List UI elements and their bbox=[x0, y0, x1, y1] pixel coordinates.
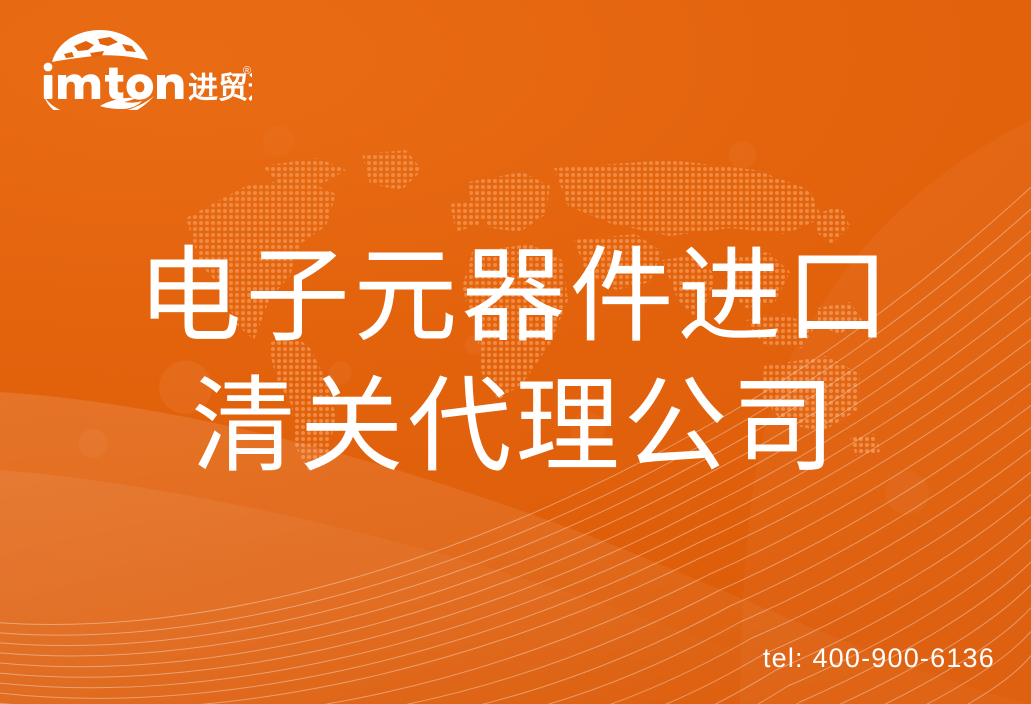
brand-logo[interactable]: 进贸通 ® bbox=[38, 26, 252, 110]
imton-wordmark bbox=[44, 63, 184, 100]
promo-banner: 进贸通 ® 电子元器件进口 清关代理公司 tel: 400-900-6136 bbox=[0, 0, 1031, 704]
page-title: 电子元器件进口 清关代理公司 bbox=[0, 232, 1031, 492]
contact-phone[interactable]: tel: 400-900-6136 bbox=[763, 643, 995, 674]
headline-line-2: 清关代理公司 bbox=[0, 362, 1031, 492]
globe-dome-icon bbox=[46, 30, 148, 68]
brand-chinese-logotype: 进贸通 ® bbox=[188, 65, 252, 105]
trademark-symbol: ® bbox=[243, 65, 251, 77]
headline-line-1: 电子元器件进口 bbox=[0, 232, 1031, 362]
